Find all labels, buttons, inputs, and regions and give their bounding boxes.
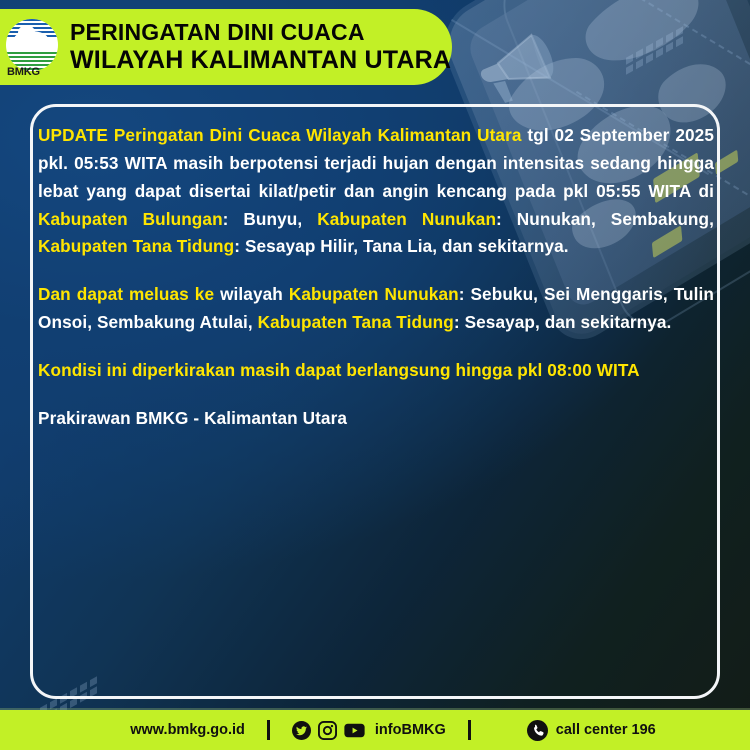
body-text: : Sesayap, dan sekitarnya.	[454, 312, 672, 332]
page-title-line2: WILAYAH KALIMANTAN UTARA	[70, 47, 451, 73]
warning-paragraph-1: UPDATE Peringatan Dini Cuaca Wilayah Kal…	[38, 122, 714, 261]
body-text: : Bunyu,	[223, 209, 318, 229]
highlighted-text: Dan dapat meluas ke	[38, 284, 214, 304]
twitter-icon[interactable]	[292, 721, 311, 740]
social-handle[interactable]: infoBMKG	[375, 722, 446, 738]
body-text: : Nunukan, Sembakung,	[496, 209, 714, 229]
header-title-group: PERINGATAN DINI CUACA WILAYAH KALIMANTAN…	[70, 21, 451, 73]
warning-paragraph-3: Kondisi ini diperkirakan masih dapat ber…	[38, 357, 714, 385]
youtube-icon[interactable]	[344, 721, 365, 740]
body-text: Prakirawan BMKG - Kalimantan Utara	[38, 408, 347, 428]
phone-icon	[527, 720, 548, 741]
social-links-group: infoBMKG	[292, 721, 446, 740]
body-text: wilayah	[214, 284, 289, 304]
bmkg-logo: BMKG	[6, 19, 62, 75]
highlighted-text: Kondisi ini diperkirakan masih dapat ber…	[38, 360, 640, 380]
body-text: : Sesayap Hilir, Tana Lia, dan sekitarny…	[234, 236, 568, 256]
warning-content: UPDATE Peringatan Dini Cuaca Wilayah Kal…	[38, 122, 714, 433]
call-center-group: call center 196	[527, 720, 656, 741]
website-link[interactable]: www.bmkg.go.id	[130, 722, 245, 738]
highlighted-text: Kabupaten Tana Tidung	[38, 236, 234, 256]
footer-bar: www.bmkg.go.id infoBMKG	[0, 710, 750, 750]
highlighted-text: Kabupaten Tana Tidung	[258, 312, 454, 332]
warning-signature: Prakirawan BMKG - Kalimantan Utara	[38, 405, 714, 433]
warning-paragraph-2: Dan dapat meluas ke wilayah Kabupaten Nu…	[38, 281, 714, 337]
footer-separator-left	[267, 720, 270, 740]
instagram-icon[interactable]	[318, 721, 337, 740]
bmkg-logo-cloud-graphic	[14, 31, 48, 47]
bmkg-logo-wordmark: BMKG	[7, 66, 40, 78]
highlighted-text: Kabupaten Nunukan	[317, 209, 496, 229]
bmkg-logo-disc	[6, 19, 58, 71]
highlighted-text: Kabupaten Nunukan	[289, 284, 459, 304]
highlighted-text: UPDATE Peringatan Dini Cuaca Wilayah Kal…	[38, 125, 522, 145]
header-banner: BMKG PERINGATAN DINI CUACA WILAYAH KALIM…	[0, 9, 452, 85]
highlighted-text: Kabupaten Bulungan	[38, 209, 223, 229]
call-center-label: call center 196	[556, 722, 656, 738]
poster-root: BMKG PERINGATAN DINI CUACA WILAYAH KALIM…	[0, 0, 750, 750]
footer-separator-right	[468, 720, 471, 740]
page-title-line1: PERINGATAN DINI CUACA	[70, 21, 451, 45]
